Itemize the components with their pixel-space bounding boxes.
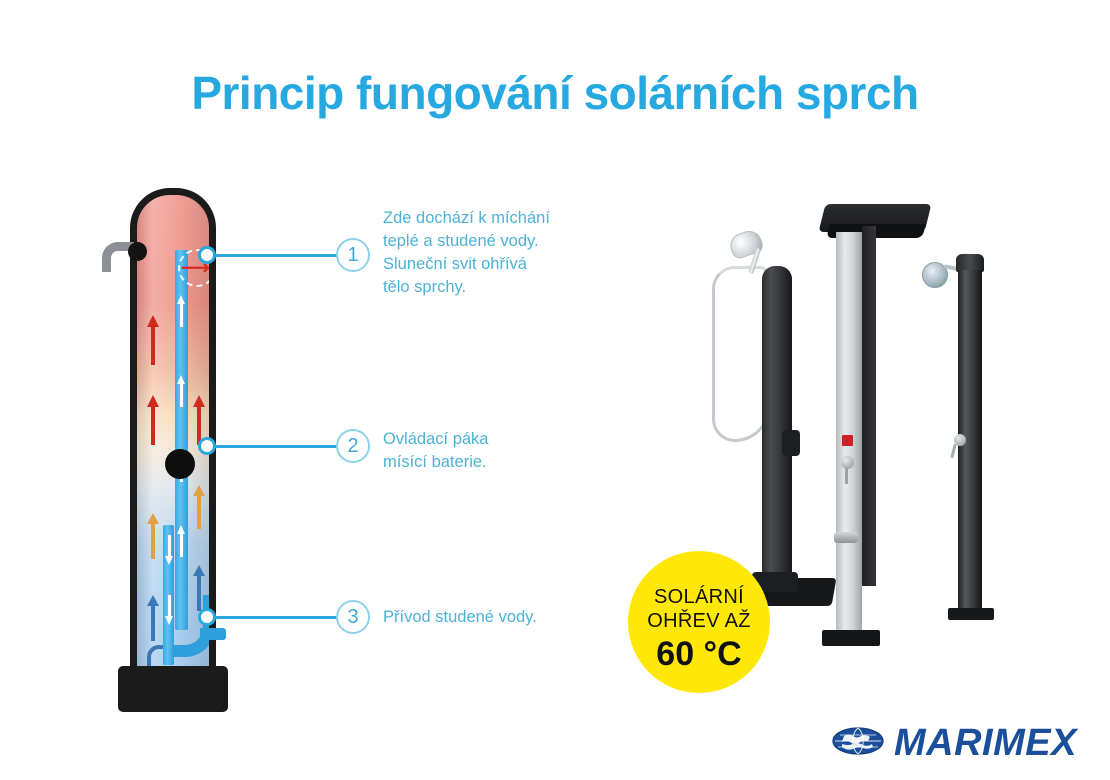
mixer-lever-knob <box>165 449 195 479</box>
product-label-badge <box>842 435 853 446</box>
brand-logo: MARIMEX <box>832 722 1077 765</box>
cold-water-inlet-stub <box>200 628 226 640</box>
foot-wash-fitting <box>834 532 858 543</box>
logo-wordmark: MARIMEX <box>894 722 1077 765</box>
shower-column-back <box>862 226 876 586</box>
badge-line-1: SOLÁRNÍ <box>628 585 770 609</box>
shower-base-plate <box>948 608 994 620</box>
shower-control-lever <box>950 444 956 458</box>
callout-line-3 <box>214 616 338 619</box>
shower-control-lever <box>845 468 848 484</box>
infographic-page: Princip fungování solárních sprch <box>0 0 1110 780</box>
base-block <box>118 666 228 712</box>
shower-column-front <box>836 232 862 632</box>
badge-line-2: OHŘEV AŽ <box>628 609 770 633</box>
solar-shower-cutaway-diagram: ⟶ ⤻ <box>100 180 360 720</box>
shower-column <box>762 266 792 586</box>
callout-text-1: Zde dochází k míchání teplé a studené vo… <box>383 207 598 299</box>
handheld-shower-head <box>727 228 765 261</box>
callout-line-2 <box>214 445 338 448</box>
shower-arm-connector <box>128 242 147 261</box>
callout-number-2: 2 <box>336 429 370 463</box>
shower-base-plate <box>822 630 880 646</box>
callout-number-3: 3 <box>336 600 370 634</box>
badge-temperature: 60 °C <box>628 635 770 673</box>
callout-text-2: Ovládací páka mísící baterie. <box>383 428 598 474</box>
callout-line-1 <box>214 254 338 257</box>
shower-valve <box>782 430 800 456</box>
globe-ellipse-icon <box>832 726 884 761</box>
callout-number-1: 1 <box>336 238 370 272</box>
callout-text-3: Přívod studené vody. <box>383 606 613 629</box>
page-title: Princip fungování solárních sprch <box>0 66 1110 120</box>
status-badge: SOLÁRNÍ OHŘEV AŽ 60 °C <box>628 551 770 693</box>
